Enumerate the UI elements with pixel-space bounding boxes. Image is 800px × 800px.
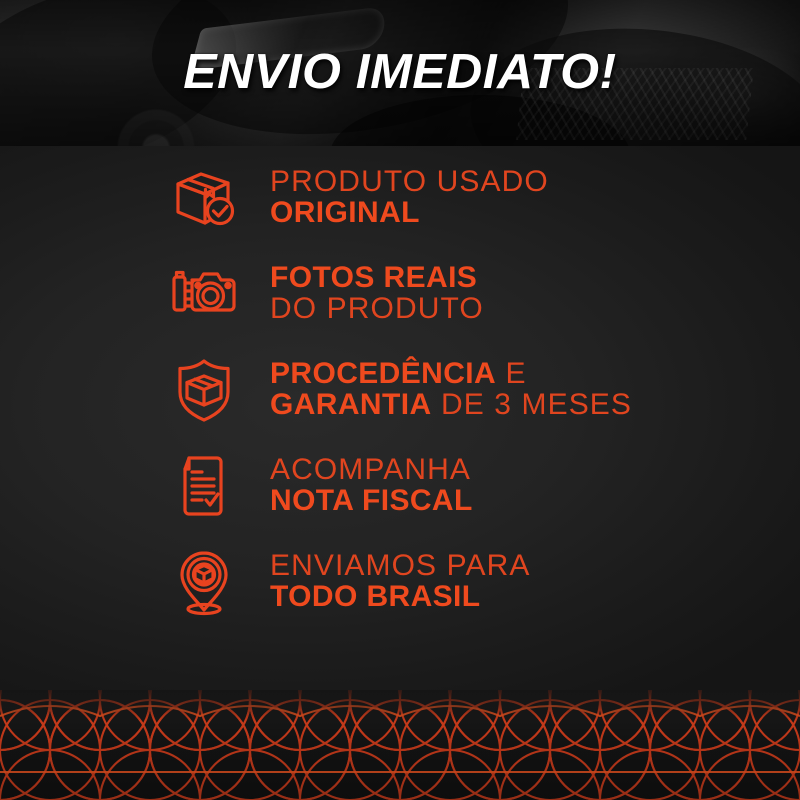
feature-row: PRODUTO USADO ORIGINAL bbox=[0, 150, 800, 246]
feature-line-2: GARANTIA DE 3 MESES bbox=[270, 390, 632, 421]
feature-line-2: DO PRODUTO bbox=[270, 294, 484, 325]
feature-line-1: ACOMPANHA bbox=[270, 455, 473, 486]
feature-text: PRODUTO USADO ORIGINAL bbox=[270, 167, 549, 229]
geometric-floral-lattice-icon bbox=[0, 690, 800, 800]
feature-text: FOTOS REAIS DO PRODUTO bbox=[270, 263, 484, 325]
feature-row: ENVIAMOS PARA TODO BRASIL bbox=[0, 534, 800, 630]
feature-row: FOTOS REAIS DO PRODUTO bbox=[0, 246, 800, 342]
feature-text: ENVIAMOS PARA TODO BRASIL bbox=[270, 551, 530, 613]
shield-box-icon bbox=[168, 354, 244, 426]
banner-header: ENVIO IMEDIATO! bbox=[0, 0, 800, 146]
feature-line-1: FOTOS REAIS bbox=[270, 263, 484, 294]
feature-line-1: ENVIAMOS PARA bbox=[270, 551, 530, 582]
invoice-check-icon bbox=[168, 450, 244, 522]
promo-banner: ENVIO IMEDIATO! PRODUTO USADO bbox=[0, 0, 800, 800]
header-title: ENVIO IMEDIATO! bbox=[0, 44, 800, 100]
decorative-pattern-footer bbox=[0, 690, 800, 800]
feature-row: ACOMPANHA NOTA FISCAL bbox=[0, 438, 800, 534]
box-check-icon bbox=[168, 162, 244, 234]
feature-line-2: TODO BRASIL bbox=[270, 582, 530, 613]
feature-line-2: NOTA FISCAL bbox=[270, 486, 473, 517]
features-list: PRODUTO USADO ORIGINAL bbox=[0, 150, 800, 630]
feature-line-2-bold: GARANTIA bbox=[270, 388, 432, 421]
feature-row: PROCEDÊNCIA E GARANTIA DE 3 MESES bbox=[0, 342, 800, 438]
feature-text: PROCEDÊNCIA E GARANTIA DE 3 MESES bbox=[270, 359, 632, 421]
feature-text: ACOMPANHA NOTA FISCAL bbox=[270, 455, 473, 517]
feature-line-2: ORIGINAL bbox=[270, 198, 549, 229]
feature-line-1: PRODUTO USADO bbox=[270, 167, 549, 198]
feature-line-1: PROCEDÊNCIA E bbox=[270, 359, 632, 390]
feature-line-1-bold: PROCEDÊNCIA bbox=[270, 357, 496, 390]
feature-line-2-thin: DE 3 MESES bbox=[432, 388, 633, 421]
map-pin-box-icon bbox=[168, 546, 244, 618]
camera-icon bbox=[168, 258, 244, 330]
feature-line-1-thin: E bbox=[496, 357, 527, 390]
features-section: PRODUTO USADO ORIGINAL bbox=[0, 146, 800, 706]
